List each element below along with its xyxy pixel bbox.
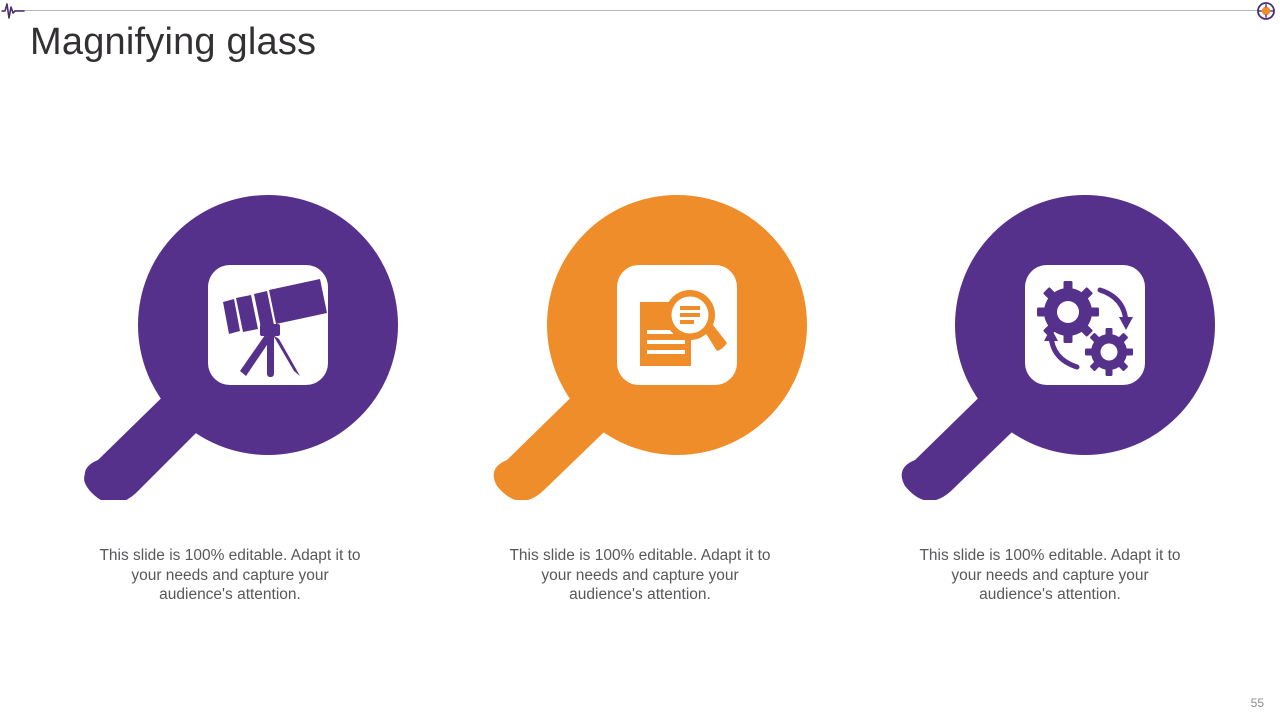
magnifying-glass-orange-document[interactable] [477,180,807,500]
magnifying-glass-purple-gears[interactable] [885,180,1215,500]
header-divider [14,10,1266,11]
card-telescope: This slide is 100% editable. Adapt it to… [40,180,420,605]
card-gears: This slide is 100% editable. Adapt it to… [860,180,1240,605]
magnifier-card-row: This slide is 100% editable. Adapt it to… [40,180,1240,605]
magnifying-glass-purple-telescope[interactable] [68,180,398,500]
card-caption: This slide is 100% editable. Adapt it to… [97,546,363,605]
page-number: 55 [1251,696,1264,710]
target-crosshair-icon [1254,0,1278,22]
page-title: Magnifying glass [30,21,316,64]
card-caption: This slide is 100% editable. Adapt it to… [507,546,773,605]
card-caption: This slide is 100% editable. Adapt it to… [917,546,1183,605]
card-document-review: This slide is 100% editable. Adapt it to… [450,180,830,605]
slide-root: { "slide": { "title": "Magnifying glass"… [0,0,1280,720]
pulse-wave-icon [0,0,26,22]
